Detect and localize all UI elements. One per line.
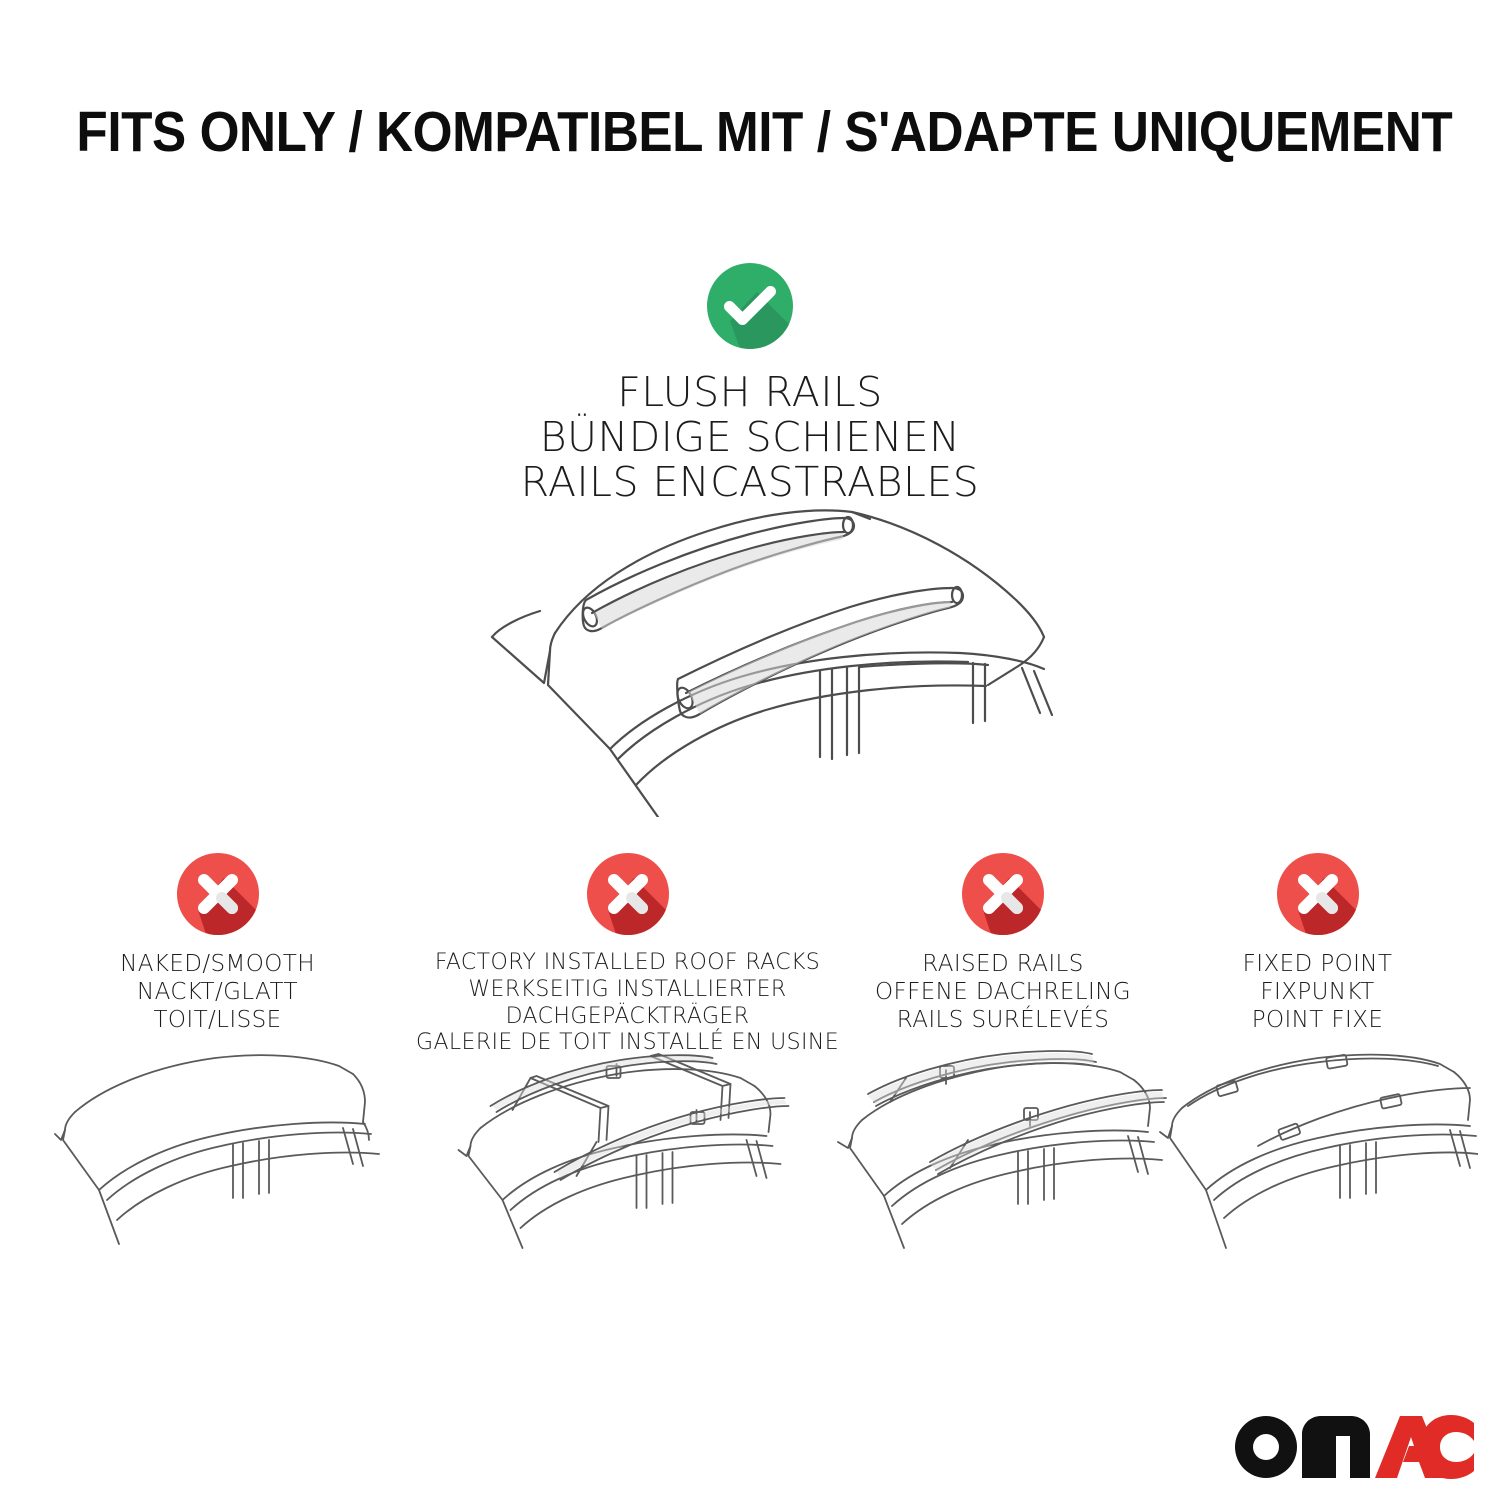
label-line-de-2: DACHGEPÄCKTRÄGER xyxy=(395,1004,860,1031)
compatible-section: FLUSH RAILS BÜNDIGE SCHIENEN RAILS ENCAS… xyxy=(0,258,1500,505)
incompatible-label-fixed-point: FIXED POINT FIXPUNKT POINT FIXE xyxy=(1165,950,1470,1034)
incompatible-column-naked-smooth: NAKED/SMOOTH NACKT/GLATT TOIT/LISSE xyxy=(45,848,390,1034)
label-line-fr: TOIT/LISSE xyxy=(45,1006,390,1034)
incompatible-label-raised-rails: RAISED RAILS OFFENE DACHRELING RAILS SUR… xyxy=(838,950,1168,1034)
car-roof-naked-smooth-illustration xyxy=(53,1048,383,1248)
car-roof-with-flush-rails-illustration xyxy=(440,487,1060,817)
incompatible-column-raised-rails: RAISED RAILS OFFENE DACHRELING RAILS SUR… xyxy=(838,848,1168,1034)
incompatible-label-factory-roof-racks: FACTORY INSTALLED ROOF RACKS WERKSEITIG … xyxy=(395,950,860,1057)
label-line-de-1: WERKSEITIG INSTALLIERTER xyxy=(395,977,860,1004)
label-line-de: NACKT/GLATT xyxy=(45,978,390,1006)
incompatible-column-factory-roof-racks: FACTORY INSTALLED ROOF RACKS WERKSEITIG … xyxy=(395,848,860,1057)
page-title-text: FITS ONLY / KOMPATIBEL MIT / S'ADAPTE UN… xyxy=(76,104,1452,161)
page-title: FITS ONLY / KOMPATIBEL MIT / S'ADAPTE UN… xyxy=(0,104,1500,161)
label-line-fr: POINT FIXE xyxy=(1165,1006,1470,1034)
red-cross-circle-icon xyxy=(582,848,674,940)
red-cross-circle-icon xyxy=(172,848,264,940)
green-check-circle-icon xyxy=(702,258,798,354)
red-cross-circle-icon xyxy=(1272,848,1364,940)
label-line-en: RAISED RAILS xyxy=(838,950,1168,978)
incompatible-section: NAKED/SMOOTH NACKT/GLATT TOIT/LISSE xyxy=(0,848,1500,1278)
label-line-fr: RAILS SURÉLEVÉS xyxy=(838,1006,1168,1034)
compatible-line-de: BÜNDIGE SCHIENEN xyxy=(0,415,1500,460)
label-line-en: FACTORY INSTALLED ROOF RACKS xyxy=(395,950,860,977)
logo-letter-m xyxy=(1302,1416,1370,1478)
logo-letter-c xyxy=(1420,1415,1474,1479)
omac-logo xyxy=(1232,1409,1474,1481)
label-line-en: FIXED POINT xyxy=(1165,950,1470,978)
compatible-line-en: FLUSH RAILS xyxy=(0,370,1500,415)
incompatible-label-naked-smooth: NAKED/SMOOTH NACKT/GLATT TOIT/LISSE xyxy=(45,950,390,1034)
car-roof-fixed-point-illustration xyxy=(1158,1050,1478,1250)
red-cross-circle-icon xyxy=(957,848,1049,940)
label-line-de: FIXPUNKT xyxy=(1165,978,1470,1006)
compatible-label: FLUSH RAILS BÜNDIGE SCHIENEN RAILS ENCAS… xyxy=(0,370,1500,505)
car-roof-factory-roof-racks-illustration xyxy=(450,1050,805,1250)
car-roof-raised-rails-illustration xyxy=(828,1050,1178,1250)
logo-letter-o xyxy=(1235,1416,1297,1478)
incompatible-column-fixed-point: FIXED POINT FIXPUNKT POINT FIXE xyxy=(1165,848,1470,1034)
label-line-en: NAKED/SMOOTH xyxy=(45,950,390,978)
label-line-de: OFFENE DACHRELING xyxy=(838,978,1168,1006)
